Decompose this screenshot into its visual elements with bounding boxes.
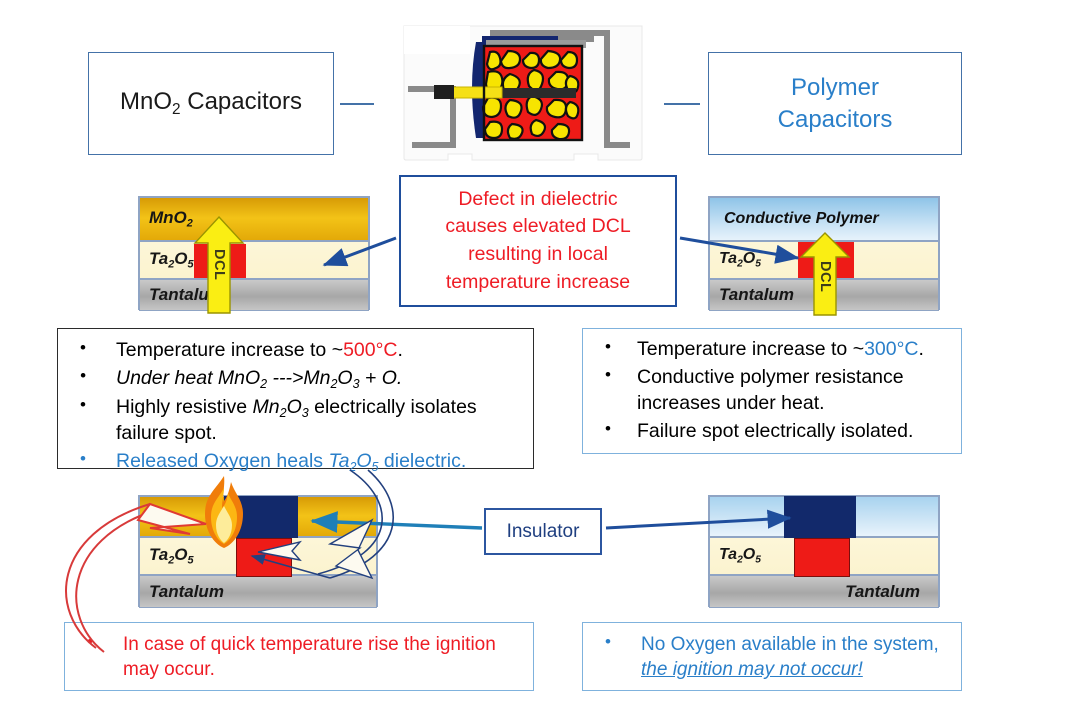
layer-ta2o5: Ta2O5 <box>139 241 369 279</box>
polymer-capacitor-stack-diagram: Conductive Polymer Ta2O5 Tantalum DCL <box>708 196 940 310</box>
mno2-after-failure-stack-diagram: Ta2O5 Tantalum <box>138 495 378 607</box>
layer-mno2-burnt <box>139 496 377 537</box>
flame-icon <box>193 474 255 554</box>
mno2-bullet-list: Temperature increase to ~500°C. Under he… <box>58 329 533 476</box>
layer-tantalum-label: Tantalum <box>140 582 224 602</box>
layer-conductive-polymer-intact <box>709 496 939 537</box>
list-item: Failure spot electrically isolated. <box>595 419 951 445</box>
defect-line-4: temperature increase <box>445 269 630 297</box>
defect-callout-text: Defect in dielectric causes elevated DCL… <box>445 186 630 297</box>
polymer-title-line1: Polymer <box>778 72 893 104</box>
insulator-block-navy <box>784 496 856 538</box>
insulator-callout-text: Insulator <box>507 521 580 543</box>
polymer-title-line2: Capacitors <box>778 104 893 136</box>
mno2-ignition-note-list: In case of quick temperature rise the ig… <box>65 623 533 683</box>
layer-ta2o5: Ta2O5 <box>139 537 377 575</box>
list-item: Temperature increase to ~500°C. <box>70 338 523 364</box>
layer-tantalum: Tantalum <box>709 575 939 608</box>
defect-line-3: resulting in local <box>445 241 630 269</box>
mno2-ignition-note-box: In case of quick temperature rise the ig… <box>64 622 534 691</box>
tantalum-capacitor-cross-section <box>398 8 648 166</box>
layer-conductive-polymer-label: Conductive Polymer <box>710 210 879 228</box>
mno2-title-main: MnO <box>120 88 172 115</box>
layer-ta2o5-label: Ta2O5 <box>140 249 194 270</box>
polymer-after-failure-stack-diagram: Ta2O5 Tantalum <box>708 495 940 607</box>
layer-tantalum-label: Tantalum <box>845 582 938 602</box>
failure-spot-red <box>794 538 850 577</box>
dcl-label: DCL <box>817 261 833 292</box>
dcl-label: DCL <box>211 249 227 280</box>
capacitor-art-svg <box>398 8 648 166</box>
layer-ta2o5: Ta2O5 <box>709 537 939 575</box>
layer-tantalum-label: Tantalum <box>710 285 794 305</box>
mno2-behaviour-bullet-box: Temperature increase to ~500°C. Under he… <box>57 328 534 469</box>
list-item: Under heat MnO2 --->Mn2O3 + O. <box>70 366 523 393</box>
polymer-capacitors-title-box: Polymer Capacitors <box>708 52 962 155</box>
mno2-capacitors-title-text: MnO2 Capacitors <box>120 88 302 119</box>
polymer-bullet-list: Temperature increase to ~300°C. Conducti… <box>583 329 961 445</box>
polymer-ignition-note-box: No Oxygen available in the system, the i… <box>582 622 962 691</box>
defect-line-1: Defect in dielectric <box>445 186 630 214</box>
mno2-title-subscript: 2 <box>172 101 181 118</box>
dcl-arrow-polymer: DCL <box>799 231 851 317</box>
flame-icon-svg <box>193 474 255 554</box>
polymer-ignition-note-list: No Oxygen available in the system, the i… <box>583 623 961 683</box>
layer-ta2o5-label: Ta2O5 <box>140 545 194 566</box>
defect-line-2: causes elevated DCL <box>445 213 630 241</box>
list-item: Released Oxygen heals Ta2O5 dielectric. <box>70 449 523 476</box>
layer-tantalum: Tantalum <box>139 279 369 311</box>
insulator-callout-box: Insulator <box>484 508 602 555</box>
list-item: Temperature increase to ~300°C. <box>595 337 951 363</box>
layer-tantalum: Tantalum <box>139 575 377 608</box>
list-item: In case of quick temperature rise the ig… <box>77 632 523 683</box>
layer-mno2-label: MnO2 <box>140 208 193 229</box>
layer-mno2: MnO2 <box>139 197 369 241</box>
connector-right-dash <box>664 103 700 105</box>
list-item: No Oxygen available in the system, the i… <box>595 632 951 683</box>
list-item: Highly resistive Mn2O3 electrically isol… <box>70 395 523 448</box>
layer-ta2o5-label: Ta2O5 <box>710 250 761 269</box>
defect-callout-box: Defect in dielectric causes elevated DCL… <box>399 175 677 307</box>
mno2-title-tail: Capacitors <box>181 88 302 115</box>
polymer-behaviour-bullet-box: Temperature increase to ~300°C. Conducti… <box>582 328 962 454</box>
layer-ta2o5-label: Ta2O5 <box>710 546 761 565</box>
polymer-capacitors-title-text: Polymer Capacitors <box>778 72 893 135</box>
mno2-capacitors-title-box: MnO2 Capacitors <box>88 52 334 155</box>
connector-left-dash <box>340 103 374 105</box>
mno2-capacitor-stack-diagram: MnO2 Ta2O5 Tantalum DCL <box>138 196 370 310</box>
dcl-arrow-mno2: DCL <box>193 215 245 315</box>
list-item: Conductive polymer resistance increases … <box>595 365 951 417</box>
